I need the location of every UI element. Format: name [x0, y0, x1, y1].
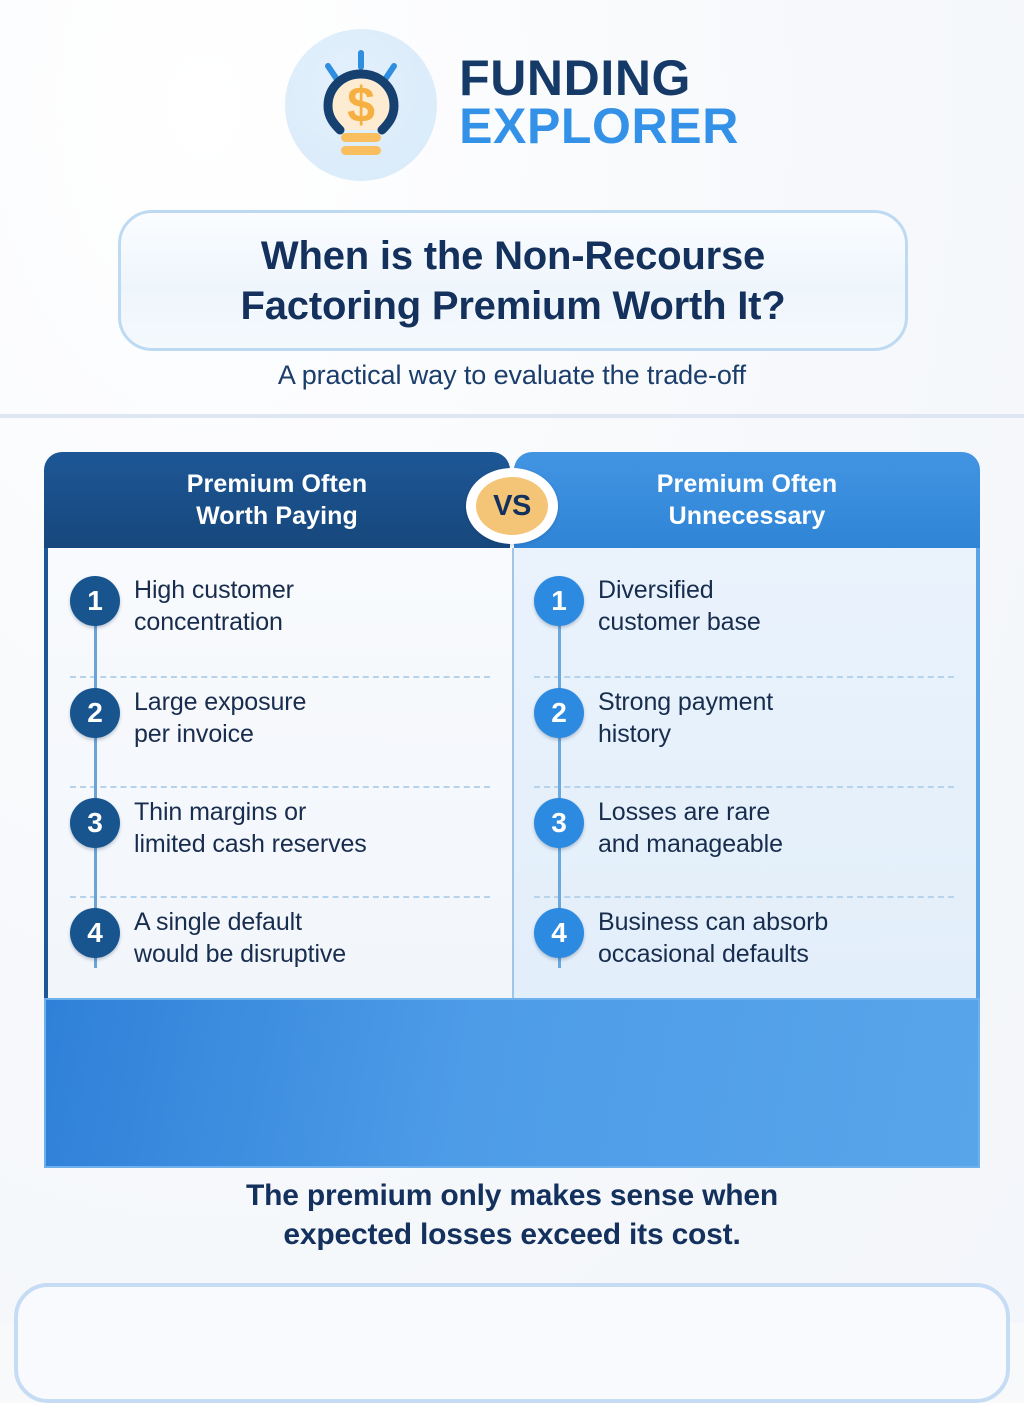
item-number-badge: 4 — [70, 908, 120, 958]
brand-header: $ FUNDING EXPLORER — [0, 20, 1024, 190]
item-text-line-1: Strong payment — [598, 687, 773, 719]
item-text: High customer concentration — [134, 574, 294, 638]
list-item: 1 Diversified customer base — [534, 566, 954, 676]
item-text-line-2: customer base — [598, 607, 761, 639]
comparison-headers: Premium Often Worth Paying Premium Often… — [44, 452, 980, 548]
section-divider — [0, 414, 1024, 418]
column-header-right-line-1: Premium Often — [657, 468, 838, 500]
item-text-line-1: High customer — [134, 575, 294, 607]
brand-line-1: FUNDING — [459, 54, 739, 103]
item-text: Diversified customer base — [598, 574, 761, 638]
vs-badge: VS — [466, 468, 558, 544]
list-item: 3 Losses are rare and manageable — [534, 786, 954, 896]
list-item: 2 Strong payment history — [534, 676, 954, 786]
item-number-badge: 2 — [70, 688, 120, 738]
svg-text:$: $ — [347, 77, 375, 133]
list-item: 4 A single default would be disruptive — [70, 896, 490, 1006]
page-subtitle: A practical way to evaluate the trade-of… — [0, 360, 1024, 391]
column-header-left-line-2: Worth Paying — [187, 500, 368, 532]
item-text-line-1: Thin margins or — [134, 797, 367, 829]
item-text: Business can absorb occasional defaults — [598, 906, 828, 970]
page-title-line-1: When is the Non-Recourse — [241, 231, 786, 281]
item-text: Strong payment history — [598, 686, 773, 750]
page-title-line-2: Factoring Premium Worth It? — [241, 281, 786, 331]
item-text: Losses are rare and manageable — [598, 796, 783, 860]
item-text-line-2: per invoice — [134, 719, 306, 751]
column-header-right: Premium Often Unnecessary — [514, 452, 980, 548]
item-text-line-2: history — [598, 719, 773, 751]
item-number-badge: 4 — [534, 908, 584, 958]
item-number-badge: 2 — [534, 688, 584, 738]
logo-badge: $ — [285, 29, 437, 181]
column-header-right-line-2: Unnecessary — [657, 500, 838, 532]
item-text-line-2: would be disruptive — [134, 939, 346, 971]
column-header-left-line-1: Premium Often — [187, 468, 368, 500]
comparison-card: Premium Often Worth Paying Premium Often… — [44, 452, 980, 1170]
item-text-line-1: Diversified — [598, 575, 761, 607]
column-header-left: Premium Often Worth Paying — [44, 452, 510, 548]
infographic-page: $ FUNDING EXPLORER When is the Non-Recou… — [0, 0, 1024, 1323]
comparison-body: 1 High customer concentration 2 Large ex… — [44, 548, 980, 998]
closing-line-1: The premium only makes sense when — [0, 1176, 1024, 1215]
closing-line-2: expected losses exceed its cost. — [0, 1215, 1024, 1254]
page-title-box: When is the Non-Recourse Factoring Premi… — [118, 210, 908, 351]
lightbulb-dollar-icon: $ — [301, 45, 421, 165]
item-number-badge: 3 — [534, 798, 584, 848]
item-text: A single default would be disruptive — [134, 906, 346, 970]
brand-line-2: EXPLORER — [459, 102, 739, 151]
card-footer-band — [44, 998, 980, 1168]
item-text-line-2: and manageable — [598, 829, 783, 861]
item-text-line-1: Large exposure — [134, 687, 306, 719]
comparison-column-right: 1 Diversified customer base 2 Strong pay… — [512, 548, 980, 998]
list-item: 1 High customer concentration — [70, 566, 490, 676]
item-number-badge: 3 — [70, 798, 120, 848]
list-item: 4 Business can absorb occasional default… — [534, 896, 954, 1006]
item-text-line-1: Business can absorb — [598, 907, 828, 939]
item-number-badge: 1 — [70, 576, 120, 626]
page-title: When is the Non-Recourse Factoring Premi… — [241, 231, 786, 331]
item-text-line-2: concentration — [134, 607, 294, 639]
item-text-line-2: limited cash reserves — [134, 829, 367, 861]
closing-statement: The premium only makes sense when expect… — [0, 1176, 1024, 1254]
item-text: Large exposure per invoice — [134, 686, 306, 750]
item-text-line-1: A single default — [134, 907, 346, 939]
list-item: 2 Large exposure per invoice — [70, 676, 490, 786]
brand-wordmark: FUNDING EXPLORER — [459, 54, 739, 157]
list-item: 3 Thin margins or limited cash reserves — [70, 786, 490, 896]
item-text-line-1: Losses are rare — [598, 797, 783, 829]
next-section-card — [14, 1283, 1010, 1403]
item-number-badge: 1 — [534, 576, 584, 626]
comparison-column-left: 1 High customer concentration 2 Large ex… — [44, 548, 512, 998]
item-text: Thin margins or limited cash reserves — [134, 796, 367, 860]
vs-label: VS — [476, 477, 548, 535]
item-text-line-2: occasional defaults — [598, 939, 828, 971]
